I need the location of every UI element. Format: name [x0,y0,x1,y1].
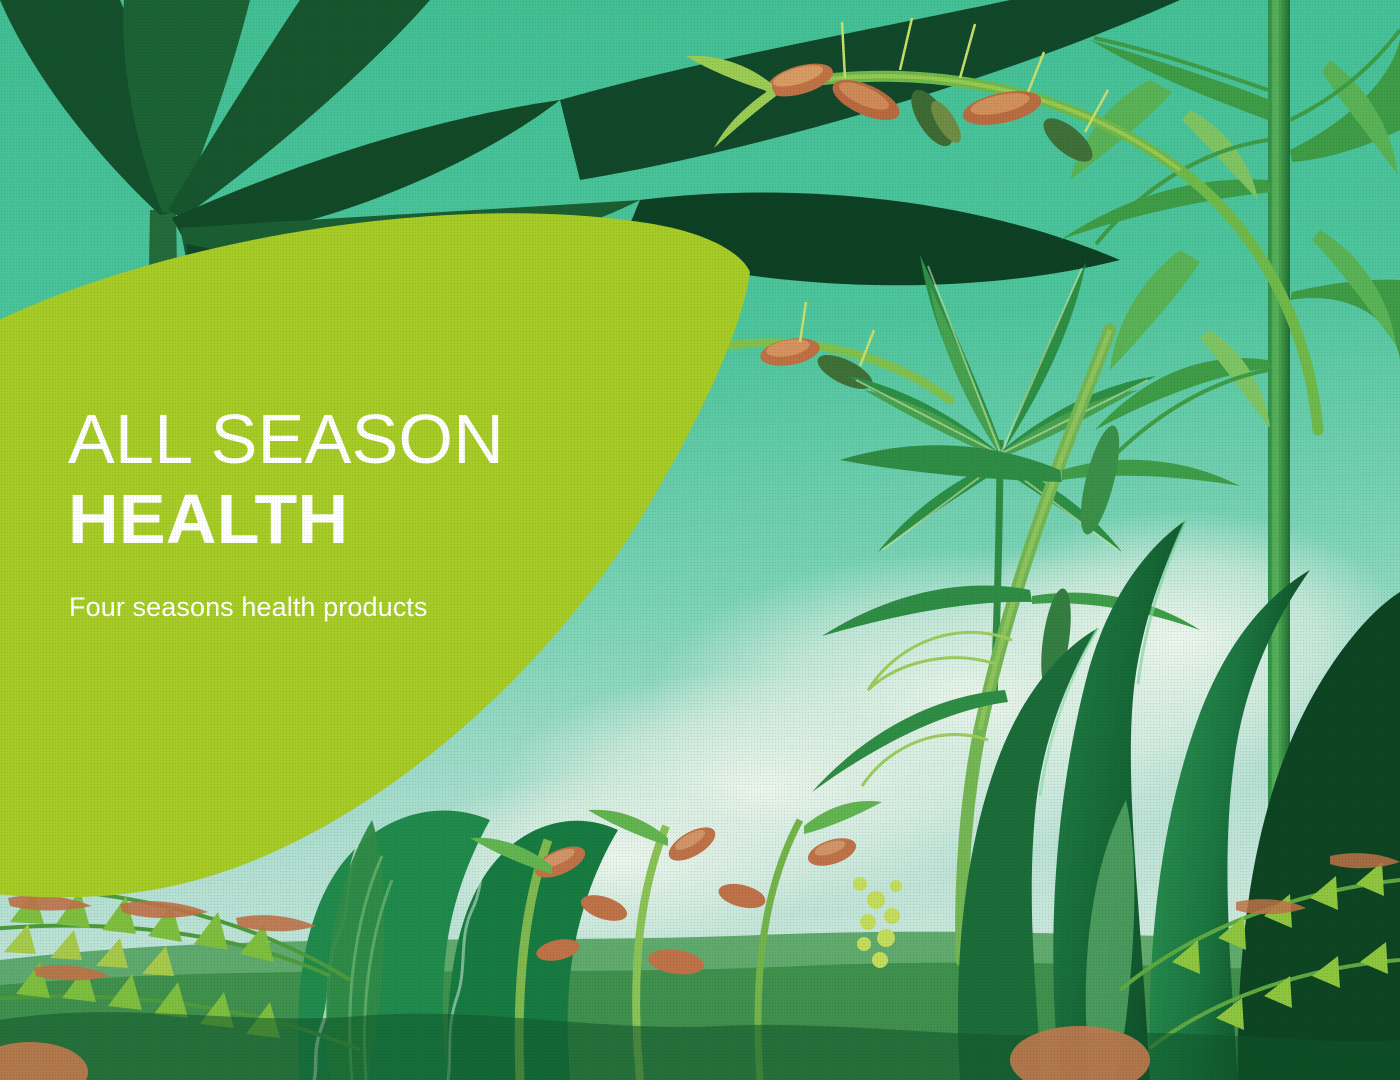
poster-canvas: ALL SEASON HEALTH Four seasons health pr… [0,0,1400,1080]
page-title-line-2: HEALTH [68,484,588,554]
page-title-line-1: ALL SEASON [68,404,588,474]
headline-block: ALL SEASON HEALTH [68,404,588,554]
page-subtitle: Four seasons health products [69,592,428,623]
